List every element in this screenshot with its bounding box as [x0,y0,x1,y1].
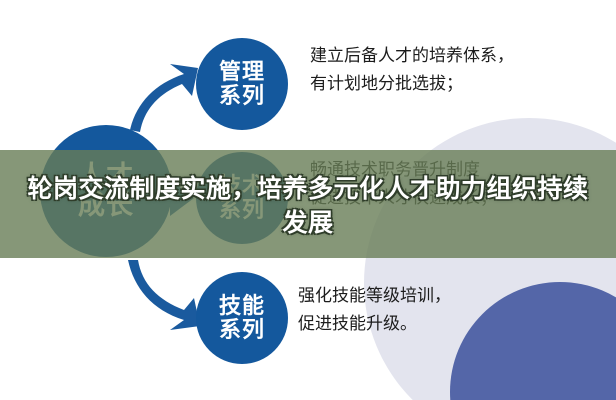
node-branch-skill-label-line-1: 技能 [219,294,265,318]
node-branch-management-label-line-1: 管理 [219,60,265,84]
node-branch-management-label-line-2: 系列 [219,84,265,108]
description-skill-line-1: 强化技能等级培训， [298,282,451,310]
node-branch-management[interactable]: 管理 系列 [196,38,288,130]
node-branch-skill[interactable]: 技能 系列 [196,272,288,364]
infographic-canvas: 人才 成长 管理 系列 技术 系列 技能 系列 建立后备人才的培养体系， 有计划… [0,0,616,400]
curved-arrow-down-right-icon [126,256,204,337]
description-skill-line-2: 促进技能升级。 [298,310,451,338]
description-skill: 强化技能等级培训， 促进技能升级。 [298,282,451,337]
node-branch-skill-label-line-2: 系列 [219,318,265,342]
curved-arrow-up-right-icon [126,62,202,139]
description-management-line-1: 建立后备人才的培养体系， [310,42,514,70]
description-management: 建立后备人才的培养体系， 有计划地分批选拔； [310,42,514,97]
description-management-line-2: 有计划地分批选拔； [310,70,514,98]
caption-headline: 轮岗交流制度实施，培养多元化人才助力组织持续发展 [0,158,616,254]
